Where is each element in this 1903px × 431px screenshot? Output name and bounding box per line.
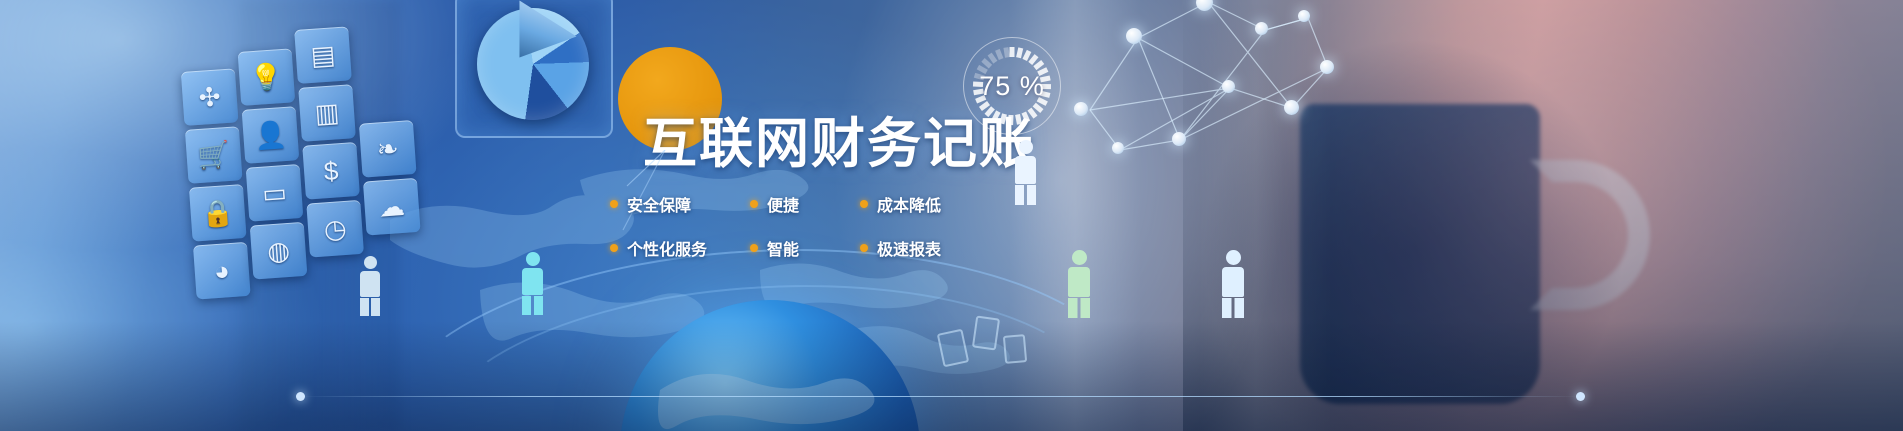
- lock-glyph: 🔒: [201, 199, 235, 227]
- feature-label: 安全保障: [627, 192, 691, 216]
- feature-label: 极速报表: [877, 236, 941, 260]
- dollar-glyph: $: [323, 157, 339, 184]
- network-node: [1172, 132, 1186, 146]
- network-graph: [1060, 0, 1360, 190]
- progress-gauge: 75 %: [963, 37, 1061, 135]
- lock-icon: 🔒: [189, 184, 247, 242]
- feature-label: 便捷: [767, 192, 799, 216]
- lightbulb-icon: 💡: [238, 48, 296, 106]
- feature-item-intelligent: 智能: [750, 226, 860, 270]
- gauge-value-label: 75 %: [963, 37, 1061, 135]
- feature-item-fast-reports: 极速报表: [860, 226, 980, 270]
- feature-list: 安全保障 便捷 成本降低 个性化服务 智能 极速报表: [610, 182, 980, 270]
- feature-label: 成本降低: [877, 192, 941, 216]
- card-icon: ▭: [246, 164, 304, 222]
- dollar-icon: $: [302, 142, 360, 200]
- leaf-icon: ❧: [359, 120, 417, 178]
- network-node: [1298, 10, 1310, 22]
- feature-item-security: 安全保障: [610, 182, 750, 226]
- person-figure: [360, 256, 380, 316]
- person-figure: [1222, 250, 1244, 318]
- feature-label: 个性化服务: [627, 236, 707, 260]
- bullet-dot-icon: [610, 200, 618, 208]
- user-icon: 👤: [242, 106, 300, 164]
- bar-chart-glyph: ▥: [314, 99, 340, 127]
- bullet-dot-icon: [860, 244, 868, 252]
- card-glyph: ▭: [261, 179, 287, 207]
- feature-item-personalized-service: 个性化服务: [610, 226, 750, 270]
- briefcase-glyph: ▤: [310, 41, 336, 69]
- leaf-glyph: ❧: [376, 135, 400, 162]
- feature-item-convenient: 便捷: [750, 182, 860, 226]
- icon-tile-grid: ✣ 💡 ▤ 🛒 👤 ▥ 🔒 ▭ $ ❧ ◕ ◍ ◷ ☁: [161, 0, 435, 227]
- puzzle-icon: ✣: [181, 68, 239, 126]
- pie-chart-panel: [455, 0, 613, 138]
- bullet-dot-icon: [860, 200, 868, 208]
- pie-chart-icon: ◕: [193, 242, 251, 300]
- cart-glyph: 🛒: [197, 141, 231, 169]
- bottom-divider: [300, 396, 1580, 397]
- hero-banner: ✣ 💡 ▤ 🛒 👤 ▥ 🔒 ▭ $ ❧ ◕ ◍ ◷ ☁ 互联网财务记账 安全保障…: [0, 0, 1903, 431]
- person-figure: [522, 252, 543, 315]
- clock-icon: ◷: [306, 200, 364, 258]
- feature-item-cost-reduction: 成本降低: [860, 182, 980, 226]
- cloud-glyph: ☁: [378, 193, 406, 221]
- floating-frames: [940, 313, 1080, 383]
- cart-icon: 🛒: [185, 126, 243, 184]
- network-node: [1320, 60, 1334, 74]
- cloud-icon: ☁: [363, 178, 421, 236]
- network-node: [1112, 142, 1124, 154]
- person-figure: [1015, 140, 1036, 205]
- network-node: [1222, 80, 1235, 93]
- network-node: [1255, 22, 1268, 35]
- clock-glyph: ◷: [323, 215, 347, 243]
- bullet-dot-icon: [750, 200, 758, 208]
- bar-chart-icon: ▥: [298, 84, 356, 142]
- briefcase-icon: ▤: [294, 26, 352, 84]
- pie-chart-glyph: ◕: [213, 257, 230, 284]
- lightbulb-glyph: 💡: [249, 63, 283, 91]
- money-bag-icon: ◍: [250, 222, 308, 280]
- person-figure: [1068, 250, 1090, 318]
- network-node: [1074, 102, 1088, 116]
- bullet-dot-icon: [610, 244, 618, 252]
- puzzle-glyph: ✣: [198, 83, 222, 110]
- bullet-dot-icon: [750, 244, 758, 252]
- feature-label: 智能: [767, 236, 799, 260]
- network-node: [1284, 100, 1299, 115]
- divider-end-dot: [296, 392, 305, 401]
- divider-end-dot: [1576, 392, 1585, 401]
- money-bag-glyph: ◍: [266, 237, 290, 265]
- user-glyph: 👤: [253, 121, 287, 149]
- network-node: [1126, 28, 1142, 44]
